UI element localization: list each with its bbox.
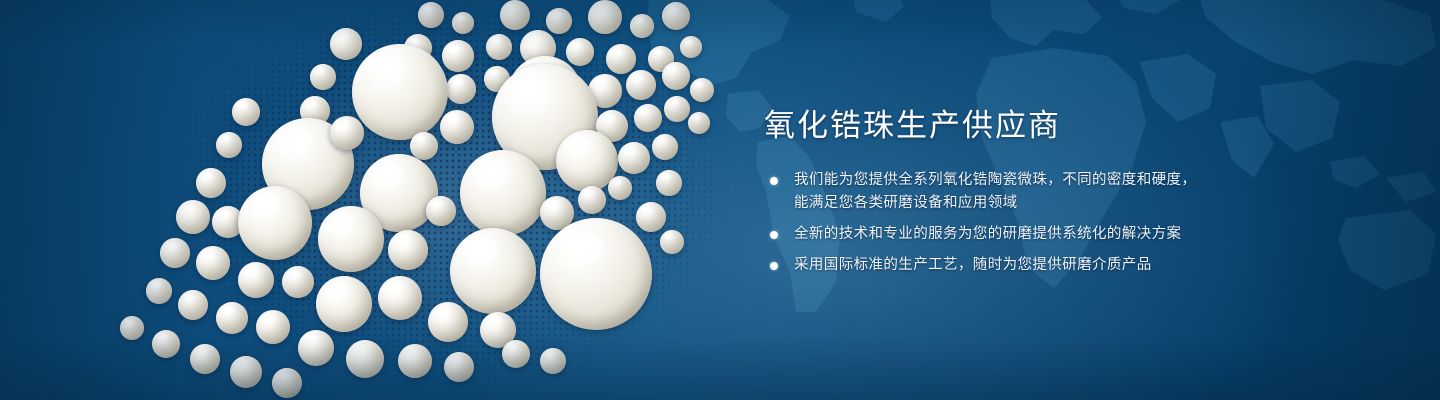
- bullet-text-line1: 全新的技术和专业的服务为您的研磨提供系统化的解决方案: [794, 226, 1181, 242]
- halftone-dot-pattern: [120, 0, 760, 400]
- page-title: 氧化锆珠生产供应商: [764, 106, 1364, 146]
- bullet-text-line2: 能满足您各类研磨设备和应用领域: [794, 192, 1364, 215]
- list-item: 我们能为您提供全系列氧化锆陶瓷微珠，不同的密度和硬度， 能满足您各类研磨设备和应…: [764, 169, 1364, 215]
- bullet-text-line1: 我们能为您提供全系列氧化锆陶瓷微珠，不同的密度和硬度，: [794, 172, 1196, 188]
- bead-cluster-glow: [150, 10, 750, 400]
- zirconia-bead-cluster-photo: [0, 0, 760, 400]
- bullet-dot-icon: [770, 231, 778, 239]
- list-item: 采用国际标准的生产工艺，随时为您提供研磨介质产品: [764, 254, 1364, 277]
- hero-banner: 氧化锆珠生产供应商 我们能为您提供全系列氧化锆陶瓷微珠，不同的密度和硬度， 能满…: [0, 0, 1440, 400]
- list-item: 全新的技术和专业的服务为您的研磨提供系统化的解决方案: [764, 223, 1364, 246]
- bullet-dot-icon: [770, 177, 778, 185]
- banner-copy: 氧化锆珠生产供应商 我们能为您提供全系列氧化锆陶瓷微珠，不同的密度和硬度， 能满…: [764, 106, 1364, 277]
- bullet-text-line1: 采用国际标准的生产工艺，随时为您提供研磨介质产品: [794, 257, 1152, 273]
- feature-bullet-list: 我们能为您提供全系列氧化锆陶瓷微珠，不同的密度和硬度， 能满足您各类研磨设备和应…: [764, 169, 1364, 277]
- bullet-dot-icon: [770, 262, 778, 270]
